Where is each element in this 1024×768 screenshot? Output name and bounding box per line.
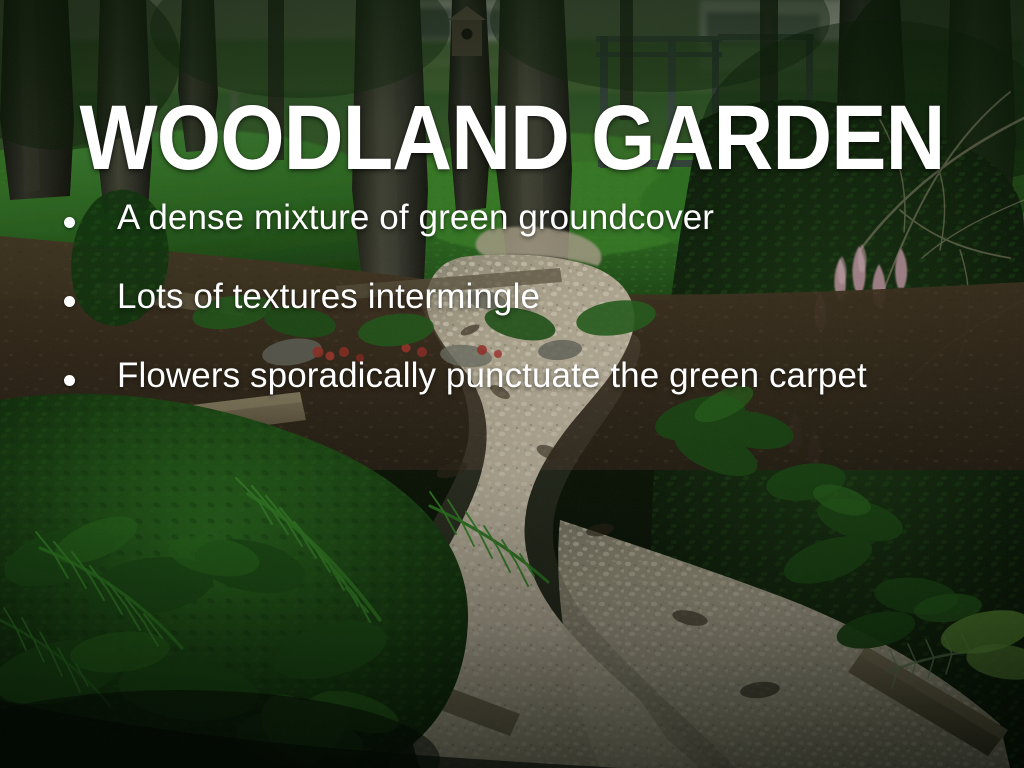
list-item: A dense mixture of green groundcover [64, 196, 994, 241]
slide-woodland-garden: WOODLAND GARDEN A dense mixture of green… [0, 0, 1024, 768]
list-item: Flowers sporadically punctuate the green… [64, 354, 994, 399]
bullet-text: Lots of textures intermingle [117, 275, 540, 320]
slide-content: WOODLAND GARDEN A dense mixture of green… [0, 0, 1024, 768]
bullet-marker-icon [64, 375, 75, 386]
bullet-text: A dense mixture of green groundcover [117, 196, 714, 241]
bullet-text: Flowers sporadically punctuate the green… [117, 354, 867, 399]
bullet-marker-icon [64, 217, 75, 228]
bullet-marker-icon [64, 296, 75, 307]
list-item: Lots of textures intermingle [64, 275, 994, 320]
bullet-list: A dense mixture of green groundcover Lot… [64, 196, 994, 398]
page-title: WOODLAND GARDEN [51, 92, 973, 184]
